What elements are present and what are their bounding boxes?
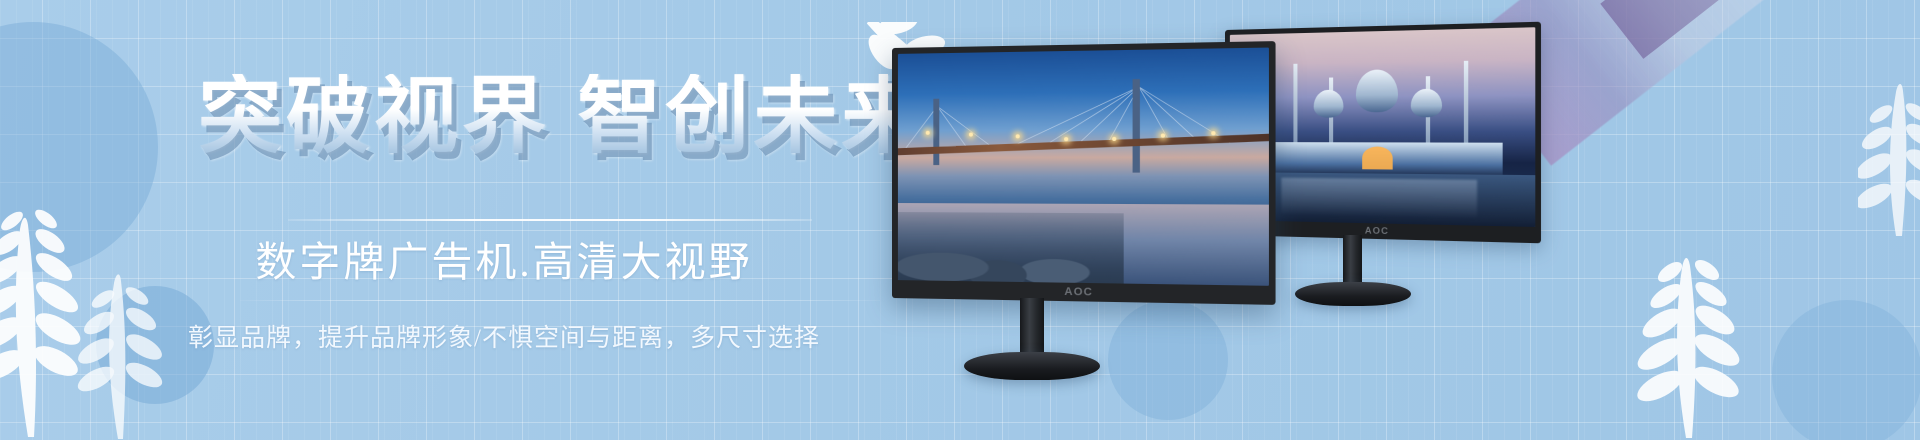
monitor-front-stand-neck — [1020, 298, 1044, 360]
monitor-back-stand-base — [1295, 282, 1411, 306]
monitor-front-panel: AOC — [892, 41, 1276, 305]
headline-divider — [288, 219, 812, 221]
subtitle-divider — [240, 300, 880, 301]
promo-banner: 突破视界 智创未来 数字牌广告机.高清大视野 彰显品牌，提升品牌形象/不惧空间与… — [0, 0, 1920, 440]
banner-tagline: 彰显品牌，提升品牌形象/不惧空间与距离，多尺寸选择 — [0, 318, 900, 354]
banner-subtitle: 数字牌广告机.高清大视野 — [0, 228, 900, 288]
banner-copy: 突破视界 智创未来 数字牌广告机.高清大视野 彰显品牌，提升品牌形象/不惧空间与… — [0, 0, 900, 440]
product-monitors: AOC — [880, 0, 1920, 440]
monitor-front-screen — [898, 48, 1269, 286]
banner-headline: 突破视界 智创未来 — [198, 74, 898, 158]
monitor-front-stand-base — [964, 352, 1100, 380]
aoc-logo-back: AOC — [1365, 225, 1389, 236]
aoc-logo-front: AOC — [1064, 286, 1093, 299]
monitor-front: AOC — [892, 48, 1282, 378]
monitor-back-stand-neck — [1343, 235, 1362, 287]
